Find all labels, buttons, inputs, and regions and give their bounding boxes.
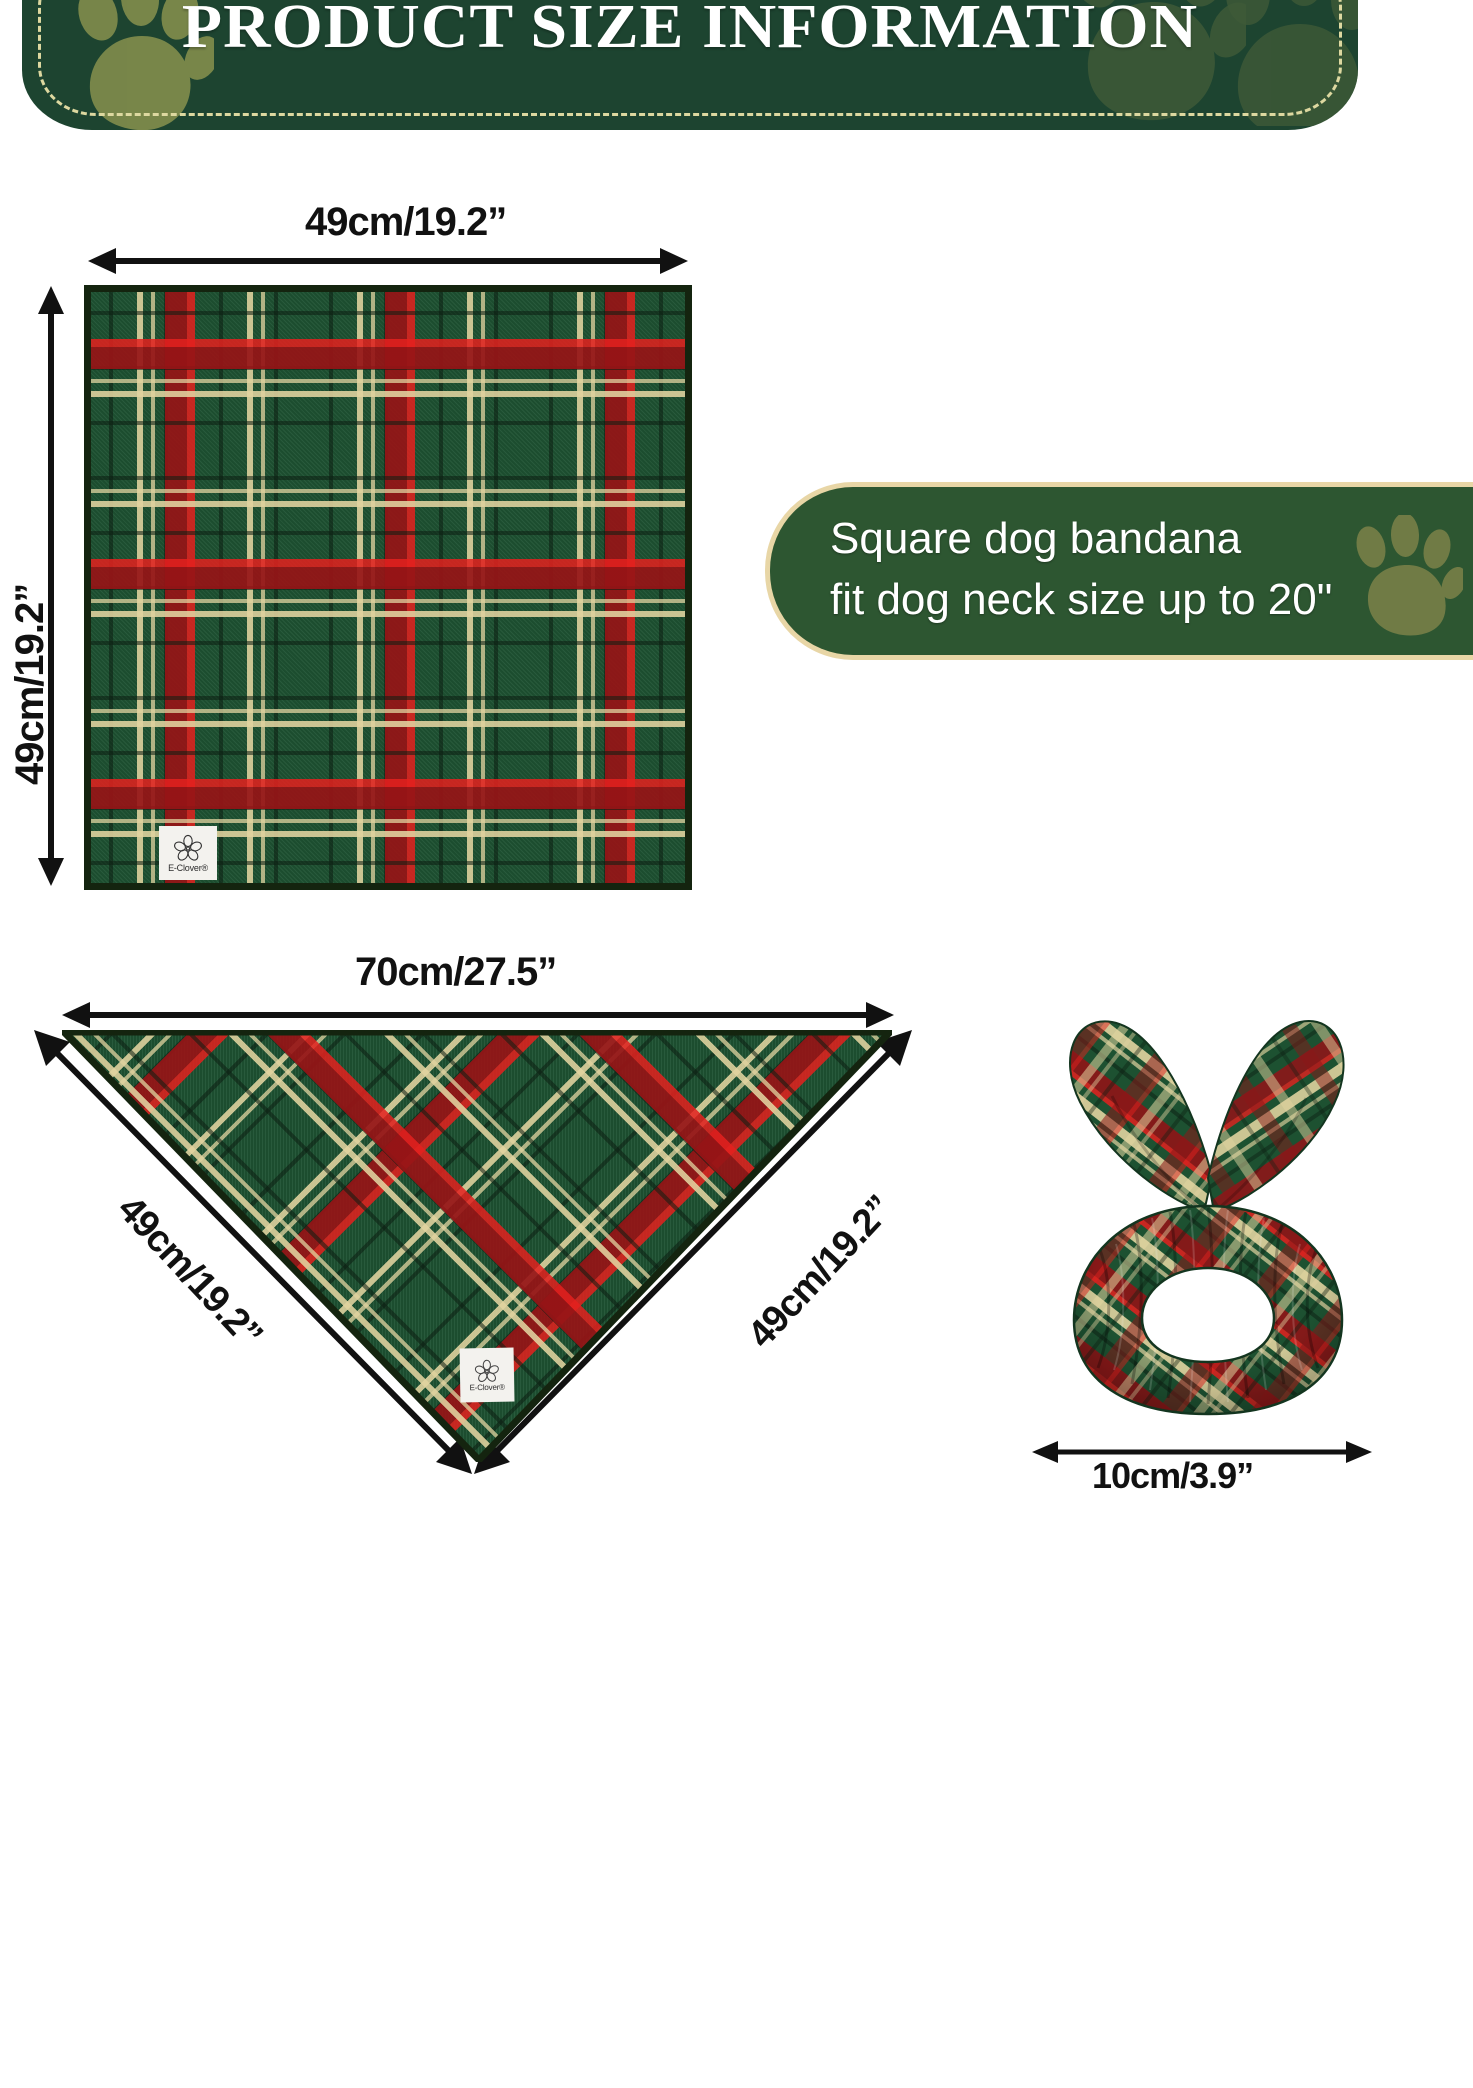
square-top-dimension-arrow: [88, 248, 688, 274]
scrunchie-left-ear: [1070, 1021, 1212, 1212]
clover-flower-icon: [474, 1358, 500, 1382]
callout-text: Square dog bandana fit dog neck size up …: [830, 509, 1332, 630]
callout-box: Square dog bandana fit dog neck size up …: [765, 482, 1473, 660]
page-title: PRODUCT SIZE INFORMATION: [22, 0, 1358, 63]
scrunchie-image: [1008, 1000, 1408, 1420]
callout-line-2: fit dog neck size up to 20": [830, 570, 1332, 631]
square-bandana-image: E-Clover®: [84, 285, 692, 890]
scrunchie-dimension-label: 10cm/3.9”: [1092, 1455, 1253, 1497]
triangle-bandana-image: E-Clover®: [62, 1030, 892, 1462]
square-top-dimension-label: 49cm/19.2”: [305, 200, 506, 245]
brand-tag: E-Clover®: [159, 826, 217, 880]
callout-line-1: Square dog bandana: [830, 509, 1332, 570]
brand-tag-label: E-Clover®: [168, 863, 208, 873]
paw-print-icon: [1345, 515, 1463, 642]
square-bandana-fabric: [84, 285, 692, 890]
square-side-dimension-arrow: [38, 286, 64, 886]
clover-flower-icon: [173, 834, 203, 862]
header-banner: PRODUCT SIZE INFORMATION: [22, 0, 1358, 130]
triangle-top-dimension-arrow: [62, 1002, 894, 1028]
scrunchie-ring: [1058, 1195, 1358, 1420]
brand-tag-label: E-Clover®: [470, 1382, 505, 1392]
scrunchie-right-ear: [1208, 1021, 1344, 1212]
brand-tag: E-Clover®: [460, 1348, 515, 1403]
triangle-top-dimension-label: 70cm/27.5”: [355, 950, 556, 995]
